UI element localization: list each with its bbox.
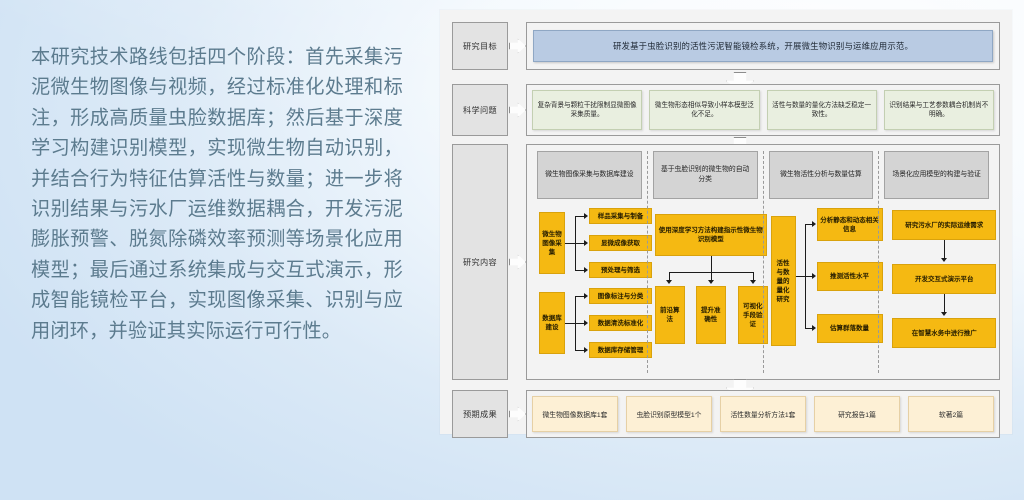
content-column-4: 场景化应用模型的构建与验证 研究污水厂的实际运维需求 开发交互式演示平台 在智慧… (878, 151, 994, 373)
research-goal-panel: 研发基于虫脸识别的活性污泥智能镜检系统，开展微生物识别与运维应用示范。 (526, 22, 1000, 70)
arrow-right-icon (508, 84, 526, 136)
problem-item: 复杂背景与颗粒干扰限制显微图像采集质量。 (532, 90, 642, 130)
expected-outcomes-panel: 微生物图像数据库1套 虫脸识别原型模型1个 活性数量分析方法1套 研究报告1篇 … (526, 390, 1000, 438)
row-expected-outcomes: 预期成果 微生物图像数据库1套 虫脸识别原型模型1个 活性数量分析方法1套 研究… (452, 390, 1000, 438)
row-research-goal: 研究目标 研发基于虫脸识别的活性污泥智能镜检系统，开展微生物识别与运维应用示范。 (452, 22, 1000, 70)
deep-learning-model-box: 使用深度学习方法构建指示性微生物识别模型 (655, 214, 767, 256)
stage-label-research-goal: 研究目标 (452, 22, 508, 70)
arrow-right-icon (508, 390, 526, 438)
task-box: 数据库存储管理 (589, 342, 652, 358)
scientific-problems-panel: 复杂背景与颗粒干扰限制显微图像采集质量。 微生物形态相似导致小样本模型泛化不足。… (526, 84, 1000, 136)
content-column-3: 微生物活性分析与数量估算 活性与数量的量化研究 分析静态和动态相关信息 推测活性… (763, 151, 879, 373)
sub-task-box: 前沿算法 (655, 286, 685, 344)
technical-route-paragraph: 本研究技术路线包括四个阶段：首先采集污泥微生物图像与视频，经过标准化处理和标注，… (31, 43, 403, 347)
outcome-item: 活性数量分析方法1套 (720, 396, 806, 432)
content-column-1: 微生物图像采集与数据库建设 微生物图像采集 样品采集与制备 显微成像获取 预处理… (532, 151, 647, 373)
problem-item: 识别结果与工艺参数耦合机制尚不明确。 (884, 90, 994, 130)
research-goal-statement: 研发基于虫脸识别的活性污泥智能镜检系统，开展微生物识别与运维应用示范。 (533, 30, 993, 62)
task-box: 分析静态和动态相关信息 (817, 208, 883, 241)
column-4-body: 研究污水厂的实际运维需求 开发交互式演示平台 在智慧水务中进行推广 (884, 206, 989, 373)
outcome-item: 软著2篇 (908, 396, 994, 432)
arrow-right-icon (508, 144, 526, 380)
sub-task-box: 提升准确性 (696, 286, 726, 344)
outcome-item: 研究报告1篇 (814, 396, 900, 432)
stage-label-scientific-problem: 科学问题 (452, 84, 508, 136)
group-label-image-acquisition: 微生物图像采集 (539, 212, 565, 274)
column-4-header: 场景化应用模型的构建与验证 (884, 151, 989, 199)
column-1-body: 微生物图像采集 样品采集与制备 显微成像获取 预处理与筛选 数据库建 (537, 206, 642, 373)
task-box: 数据清洗标准化 (589, 315, 652, 331)
technical-route-diagram: 研究目标 研发基于虫脸识别的活性污泥智能镜检系统，开展微生物识别与运维应用示范。… (440, 10, 1012, 434)
task-box: 预处理与筛选 (589, 262, 652, 278)
arrow-right-icon (508, 22, 526, 70)
row-scientific-problems: 科学问题 复杂背景与颗粒干扰限制显微图像采集质量。 微生物形态相似导致小样本模型… (452, 84, 1000, 136)
problem-item: 活性与数量的量化方法缺乏稳定一致性。 (767, 90, 877, 130)
task-box: 估算群落数量 (817, 314, 883, 343)
column-1-header: 微生物图像采集与数据库建设 (537, 151, 642, 199)
outcome-item: 虫脸识别原型模型1个 (626, 396, 712, 432)
task-box: 开发交互式演示平台 (892, 264, 996, 294)
task-box: 在智慧水务中进行推广 (892, 318, 996, 348)
stage-label-expected-outcome: 预期成果 (452, 390, 508, 438)
task-box: 推测活性水平 (817, 262, 883, 291)
stage-label-research-content: 研究内容 (452, 144, 508, 380)
column-3-header: 微生物活性分析与数量估算 (769, 151, 874, 199)
row-research-content: 研究内容 微生物图像采集与数据库建设 微生物图像采集 样品采集与制备 显微成像获… (452, 144, 1000, 380)
content-column-2: 基于虫脸识别的微生物的自动分类 使用深度学习方法构建指示性微生物识别模型 前沿算… (647, 151, 763, 373)
group-label-database-construction: 数据库建设 (539, 292, 565, 354)
problem-item: 微生物形态相似导致小样本模型泛化不足。 (649, 90, 759, 130)
column-2-body: 使用深度学习方法构建指示性微生物识别模型 前沿算法 提升准确性 可视化手段验证 (653, 206, 758, 373)
task-box: 显微成像获取 (589, 235, 652, 251)
group-label-activity-quantification: 活性与数量的量化研究 (771, 216, 796, 346)
task-box: 图像标注与分类 (589, 288, 652, 304)
task-box: 研究污水厂的实际运维需求 (892, 210, 996, 240)
column-2-header: 基于虫脸识别的微生物的自动分类 (653, 151, 758, 199)
task-box: 样品采集与制备 (589, 208, 652, 224)
research-content-panel: 微生物图像采集与数据库建设 微生物图像采集 样品采集与制备 显微成像获取 预处理… (526, 144, 1000, 380)
column-3-body: 活性与数量的量化研究 分析静态和动态相关信息 推测活性水平 估算群落数量 (769, 206, 874, 373)
outcome-item: 微生物图像数据库1套 (532, 396, 618, 432)
